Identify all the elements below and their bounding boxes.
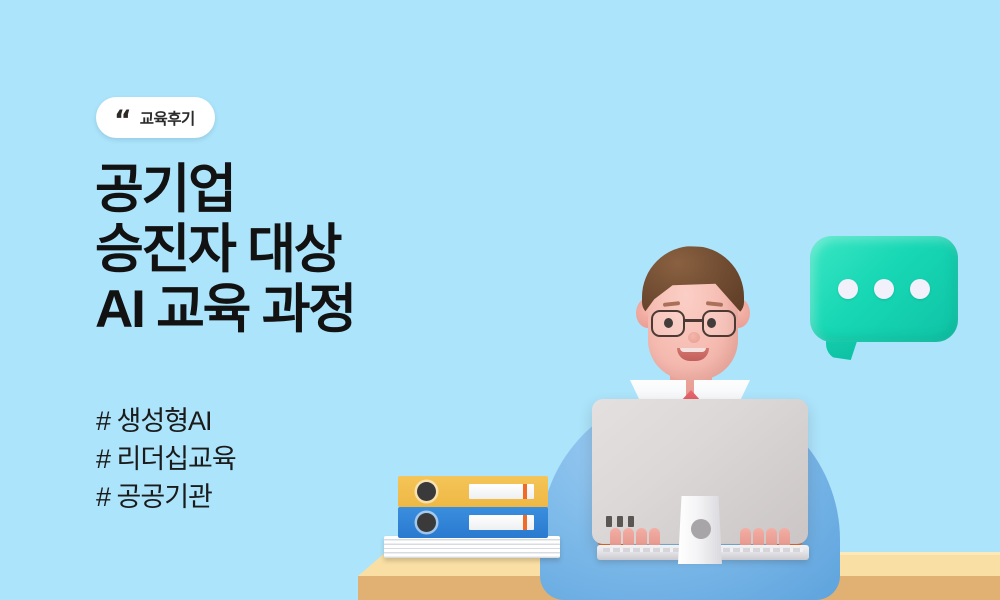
port-3 bbox=[628, 516, 634, 527]
port-1 bbox=[606, 516, 612, 527]
binder-stack bbox=[398, 476, 548, 574]
promo-banner: “ 교육후기 공기업 승진자 대상 AI 교육 과정 # 생성형AI # 리더십… bbox=[0, 0, 1000, 600]
monitor-ports bbox=[606, 516, 634, 527]
badge: “ 교육후기 bbox=[96, 97, 215, 138]
hashtag-item-2: # 리더십교육 bbox=[96, 440, 236, 478]
headline-line-1: 공기업 bbox=[95, 160, 615, 220]
binder-ring-icon bbox=[417, 482, 436, 501]
lens-left bbox=[651, 310, 685, 337]
lens-right bbox=[702, 310, 736, 337]
hashtag-list: # 생성형AI # 리더십교육 # 공공기관 bbox=[96, 402, 236, 516]
binder-label bbox=[469, 515, 534, 530]
bubble-dot-2 bbox=[874, 279, 894, 299]
quote-icon: “ bbox=[114, 107, 131, 134]
hashtag-item-3: # 공공기관 bbox=[96, 478, 236, 516]
glasses-bridge bbox=[685, 319, 702, 322]
nose bbox=[688, 332, 700, 343]
port-2 bbox=[617, 516, 623, 527]
monitor-stand-dot bbox=[691, 519, 711, 539]
binder-bottom bbox=[398, 507, 548, 538]
hashtag-item-1: # 생성형AI bbox=[96, 402, 236, 440]
badge-label: 교육후기 bbox=[140, 107, 195, 129]
paper-stack bbox=[384, 536, 560, 558]
binder-top bbox=[398, 476, 548, 507]
binder-label bbox=[469, 484, 534, 499]
binder-ring-icon bbox=[417, 513, 436, 532]
bubble-dot-3 bbox=[910, 279, 930, 299]
